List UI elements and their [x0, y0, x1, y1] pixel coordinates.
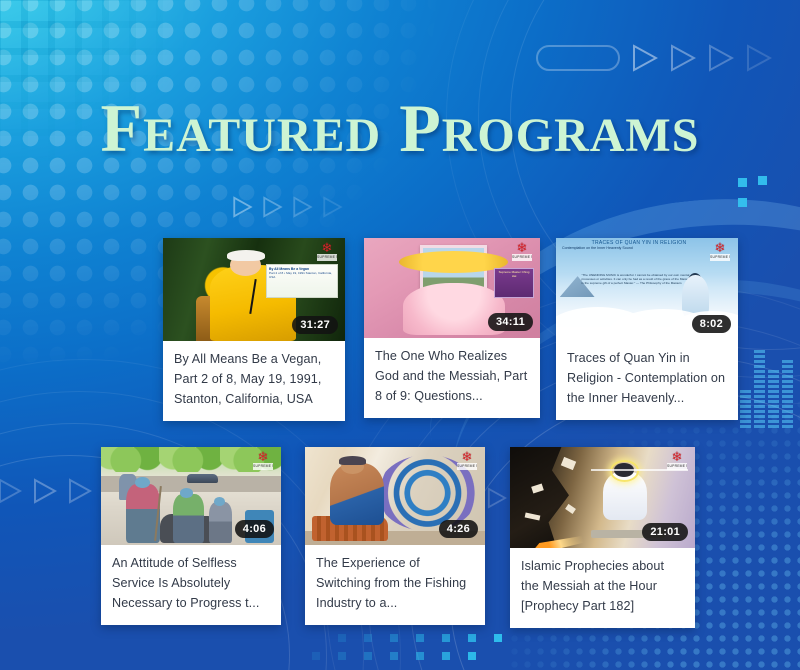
- equalizer-column: [754, 350, 765, 428]
- triangle-right-icon: [746, 44, 772, 72]
- bird-logo-icon: ❄: [258, 451, 269, 462]
- card-title[interactable]: Traces of Quan Yin in Religion - Contemp…: [556, 340, 738, 420]
- program-card[interactable]: ❄ SUPREME MASTER TV 4:06 An Attitude of …: [101, 447, 281, 625]
- channel-logo: ❄ SUPREME MASTER TV: [707, 242, 733, 264]
- bird-logo-icon: ❄: [672, 451, 683, 462]
- bird-logo-icon: ❄: [715, 242, 726, 253]
- card-title[interactable]: An Attitude of Selfless Service Is Absol…: [101, 545, 281, 625]
- thumbnail-caption-card: By All Means Be a Vegan Part 2 of 8 • Ma…: [266, 264, 338, 298]
- thumbnail-caption-title: Supreme Master Ching Hai: [499, 270, 530, 278]
- program-card[interactable]: ❄ SUPREME MASTER TV 21:01 Islamic Prophe…: [510, 447, 695, 628]
- page-title: Featured Programs: [0, 94, 800, 162]
- card-thumbnail[interactable]: TRACES OF QUAN YIN IN RELIGION Contempla…: [556, 238, 738, 340]
- volunteer-head: [135, 477, 149, 488]
- pixel-squares-right-top: [738, 176, 792, 216]
- decor-arrow-row-lower-left: [0, 478, 92, 504]
- channel-logo-text: SUPREME MASTER TV: [317, 254, 337, 261]
- duration-badge: 8:02: [692, 315, 731, 333]
- speaker-headwrap: [227, 250, 265, 260]
- card-thumbnail[interactable]: ❄ SUPREME MASTER TV 4:26: [305, 447, 485, 545]
- triangle-right-icon: [708, 44, 734, 72]
- channel-logo: ❄ SUPREME MASTER TV: [664, 451, 690, 473]
- bird-logo-icon: ❄: [322, 242, 333, 253]
- volunteer-figure: [173, 494, 204, 543]
- channel-logo-text: SUPREME MASTER TV: [457, 463, 477, 470]
- rock-silhouette: [510, 447, 588, 548]
- decor-arrow-row-top-right: [536, 44, 772, 72]
- triangle-right-icon: [322, 196, 343, 218]
- card-thumbnail[interactable]: Supreme Master Ching Hai ❄ SUPREME MASTE…: [364, 238, 540, 338]
- channel-logo: ❄ SUPREME MASTER TV: [314, 242, 340, 264]
- channel-logo-text: SUPREME MASTER TV: [253, 463, 273, 470]
- volunteer-figure: [209, 502, 232, 543]
- card-thumbnail[interactable]: ❄ SUPREME MASTER TV 21:01: [510, 447, 695, 548]
- card-title[interactable]: The Experience of Switching from the Fis…: [305, 545, 485, 625]
- channel-logo-text: SUPREME MASTER TV: [667, 463, 687, 470]
- duration-badge: 34:11: [488, 313, 533, 331]
- channel-logo: ❄ SUPREME MASTER TV: [250, 451, 276, 473]
- triangle-right-icon: [670, 44, 696, 72]
- bird-logo-icon: ❄: [517, 242, 528, 253]
- debris-shard: [565, 504, 576, 514]
- volunteer-head: [214, 497, 225, 506]
- thumbnail-caption-sub: Part 2 of 8 • May 19, 1991 Stanton, Cali…: [269, 271, 335, 279]
- program-card[interactable]: TRACES OF QUAN YIN IN RELIGION Contempla…: [556, 238, 738, 420]
- bird-logo-icon: ❄: [462, 451, 473, 462]
- featured-programs-banner: Featured Programs By All Means Be a Vega…: [0, 0, 800, 670]
- channel-logo-text: SUPREME MASTER TV: [710, 254, 730, 261]
- wide-brim-hat: [399, 251, 508, 273]
- rounded-pill-icon: [536, 45, 620, 71]
- duration-badge: 4:06: [235, 520, 274, 538]
- program-card[interactable]: Supreme Master Ching Hai ❄ SUPREME MASTE…: [364, 238, 540, 418]
- pixel-squares-bottom-center: [338, 630, 548, 664]
- program-card[interactable]: ❄ SUPREME MASTER TV 4:26 The Experience …: [305, 447, 485, 625]
- channel-logo: ❄ SUPREME MASTER TV: [454, 451, 480, 473]
- debris-shard: [561, 457, 576, 470]
- triangle-right-icon: [68, 478, 92, 504]
- car-shape: [187, 474, 218, 483]
- decor-arrow-row-mid-left: [232, 196, 343, 218]
- channel-logo-text: SUPREME MASTER TV: [512, 254, 532, 261]
- duration-badge: 31:27: [292, 316, 338, 334]
- triangle-right-icon: [232, 196, 253, 218]
- duration-badge: 21:01: [642, 523, 688, 541]
- card-thumbnail[interactable]: ❄ SUPREME MASTER TV 4:06: [101, 447, 281, 545]
- duration-badge: 4:26: [439, 520, 478, 538]
- triangle-right-icon: [632, 44, 658, 72]
- channel-logo: ❄ SUPREME MASTER TV: [509, 242, 535, 264]
- volunteer-head: [180, 488, 193, 498]
- triangle-right-icon: [292, 196, 313, 218]
- thumbnail-quote-text: "The UNENDING MUSIC is wonderful. I cann…: [581, 273, 694, 286]
- fisherman-hair: [339, 456, 366, 465]
- triangle-right-icon: [33, 478, 57, 504]
- card-title[interactable]: Islamic Prophecies about the Messiah at …: [510, 548, 695, 628]
- card-thumbnail[interactable]: By All Means Be a Vegan Part 2 of 8 • Ma…: [163, 238, 345, 341]
- triangle-right-icon: [262, 196, 283, 218]
- card-title[interactable]: By All Means Be a Vegan, Part 2 of 8, Ma…: [163, 341, 345, 421]
- equalizer-column: [768, 370, 779, 428]
- decor-arrow-right-mid: [487, 487, 507, 509]
- thumbnail-caption-sub: Contemplation on the Inner Heavenly Soun…: [562, 246, 716, 251]
- equalizer-bars-decoration: [740, 300, 800, 428]
- triangle-right-icon: [487, 487, 507, 509]
- equalizer-column: [782, 360, 793, 428]
- program-card[interactable]: By All Means Be a Vegan Part 2 of 8 • Ma…: [163, 238, 345, 421]
- equalizer-column: [740, 390, 751, 428]
- triangle-right-icon: [0, 478, 22, 504]
- thumbnail-caption-card: Supreme Master Ching Hai: [494, 268, 534, 298]
- card-title[interactable]: The One Who Realizes God and the Messiah…: [364, 338, 540, 418]
